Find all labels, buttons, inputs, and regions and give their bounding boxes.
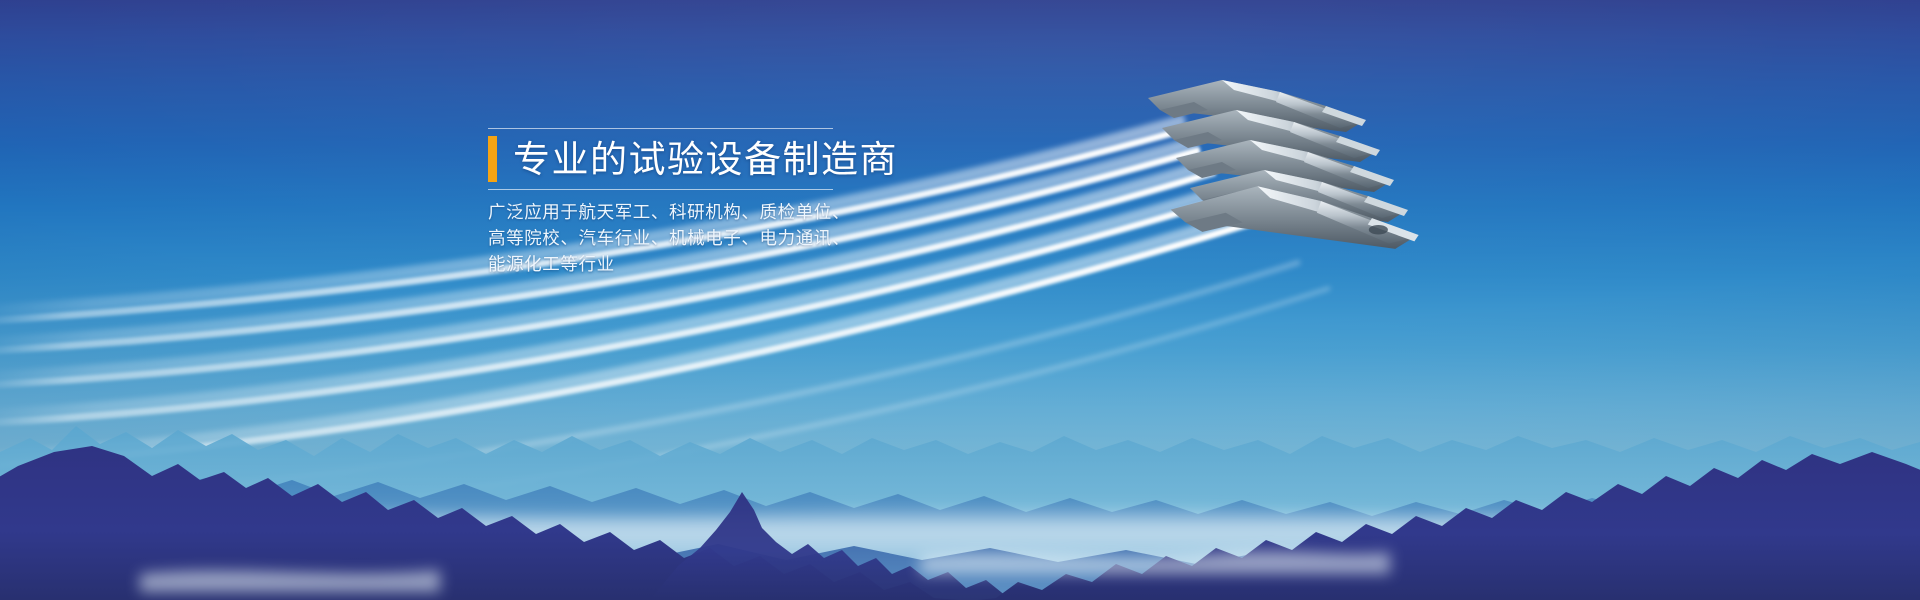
subtitle-line-3: 能源化工等行业 bbox=[488, 251, 908, 277]
accent-bar-icon bbox=[488, 136, 497, 182]
hero-banner: 专业的试验设备制造商 广泛应用于航天军工、科研机构、质检单位、 高等院校、汽车行… bbox=[0, 0, 1920, 600]
mountain-range-silhouette bbox=[0, 360, 1920, 600]
banner-title-row: 专业的试验设备制造商 bbox=[488, 129, 908, 189]
divider-bottom bbox=[488, 189, 833, 190]
page-title: 专业的试验设备制造商 bbox=[513, 141, 898, 178]
subtitle-line-1: 广泛应用于航天军工、科研机构、质检单位、 bbox=[488, 199, 908, 225]
fighter-jet-formation bbox=[1130, 40, 1530, 270]
banner-subtitle: 广泛应用于航天军工、科研机构、质检单位、 高等院校、汽车行业、机械电子、电力通讯… bbox=[488, 199, 908, 277]
subtitle-line-2: 高等院校、汽车行业、机械电子、电力通讯、 bbox=[488, 225, 908, 251]
banner-text-block: 专业的试验设备制造商 广泛应用于航天军工、科研机构、质检单位、 高等院校、汽车行… bbox=[488, 128, 908, 277]
